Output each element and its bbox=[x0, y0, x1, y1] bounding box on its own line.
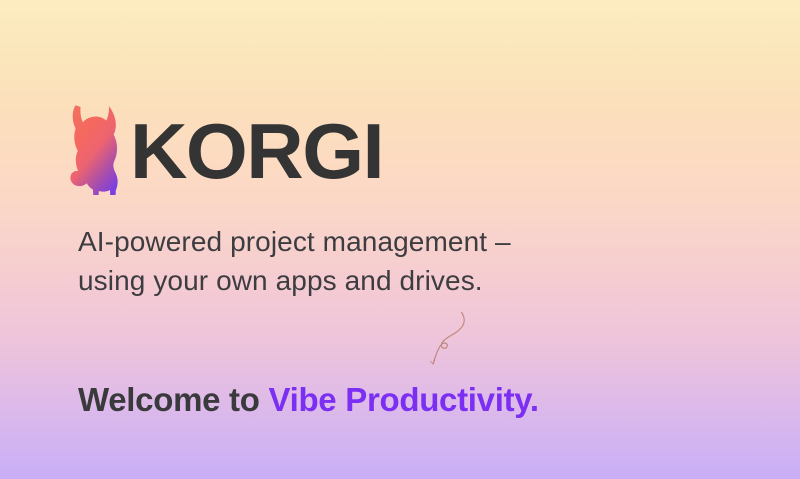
hero-banner: KORGI AI-powered project management – us… bbox=[0, 0, 800, 479]
tagline-line-1: AI-powered project management – bbox=[78, 222, 511, 261]
headline-accent: Vibe Productivity. bbox=[268, 381, 538, 418]
tagline: AI-powered project management – using yo… bbox=[78, 222, 511, 300]
page-headline: Welcome to Vibe Productivity. bbox=[78, 380, 539, 420]
headline-lead: Welcome to bbox=[78, 381, 268, 418]
tagline-line-2: using your own apps and drives. bbox=[78, 261, 511, 300]
corgi-dog-silhouette-icon bbox=[67, 105, 123, 197]
brand-wordmark: KORGI bbox=[130, 112, 383, 190]
brand-logo-lockup: KORGI bbox=[67, 105, 378, 197]
